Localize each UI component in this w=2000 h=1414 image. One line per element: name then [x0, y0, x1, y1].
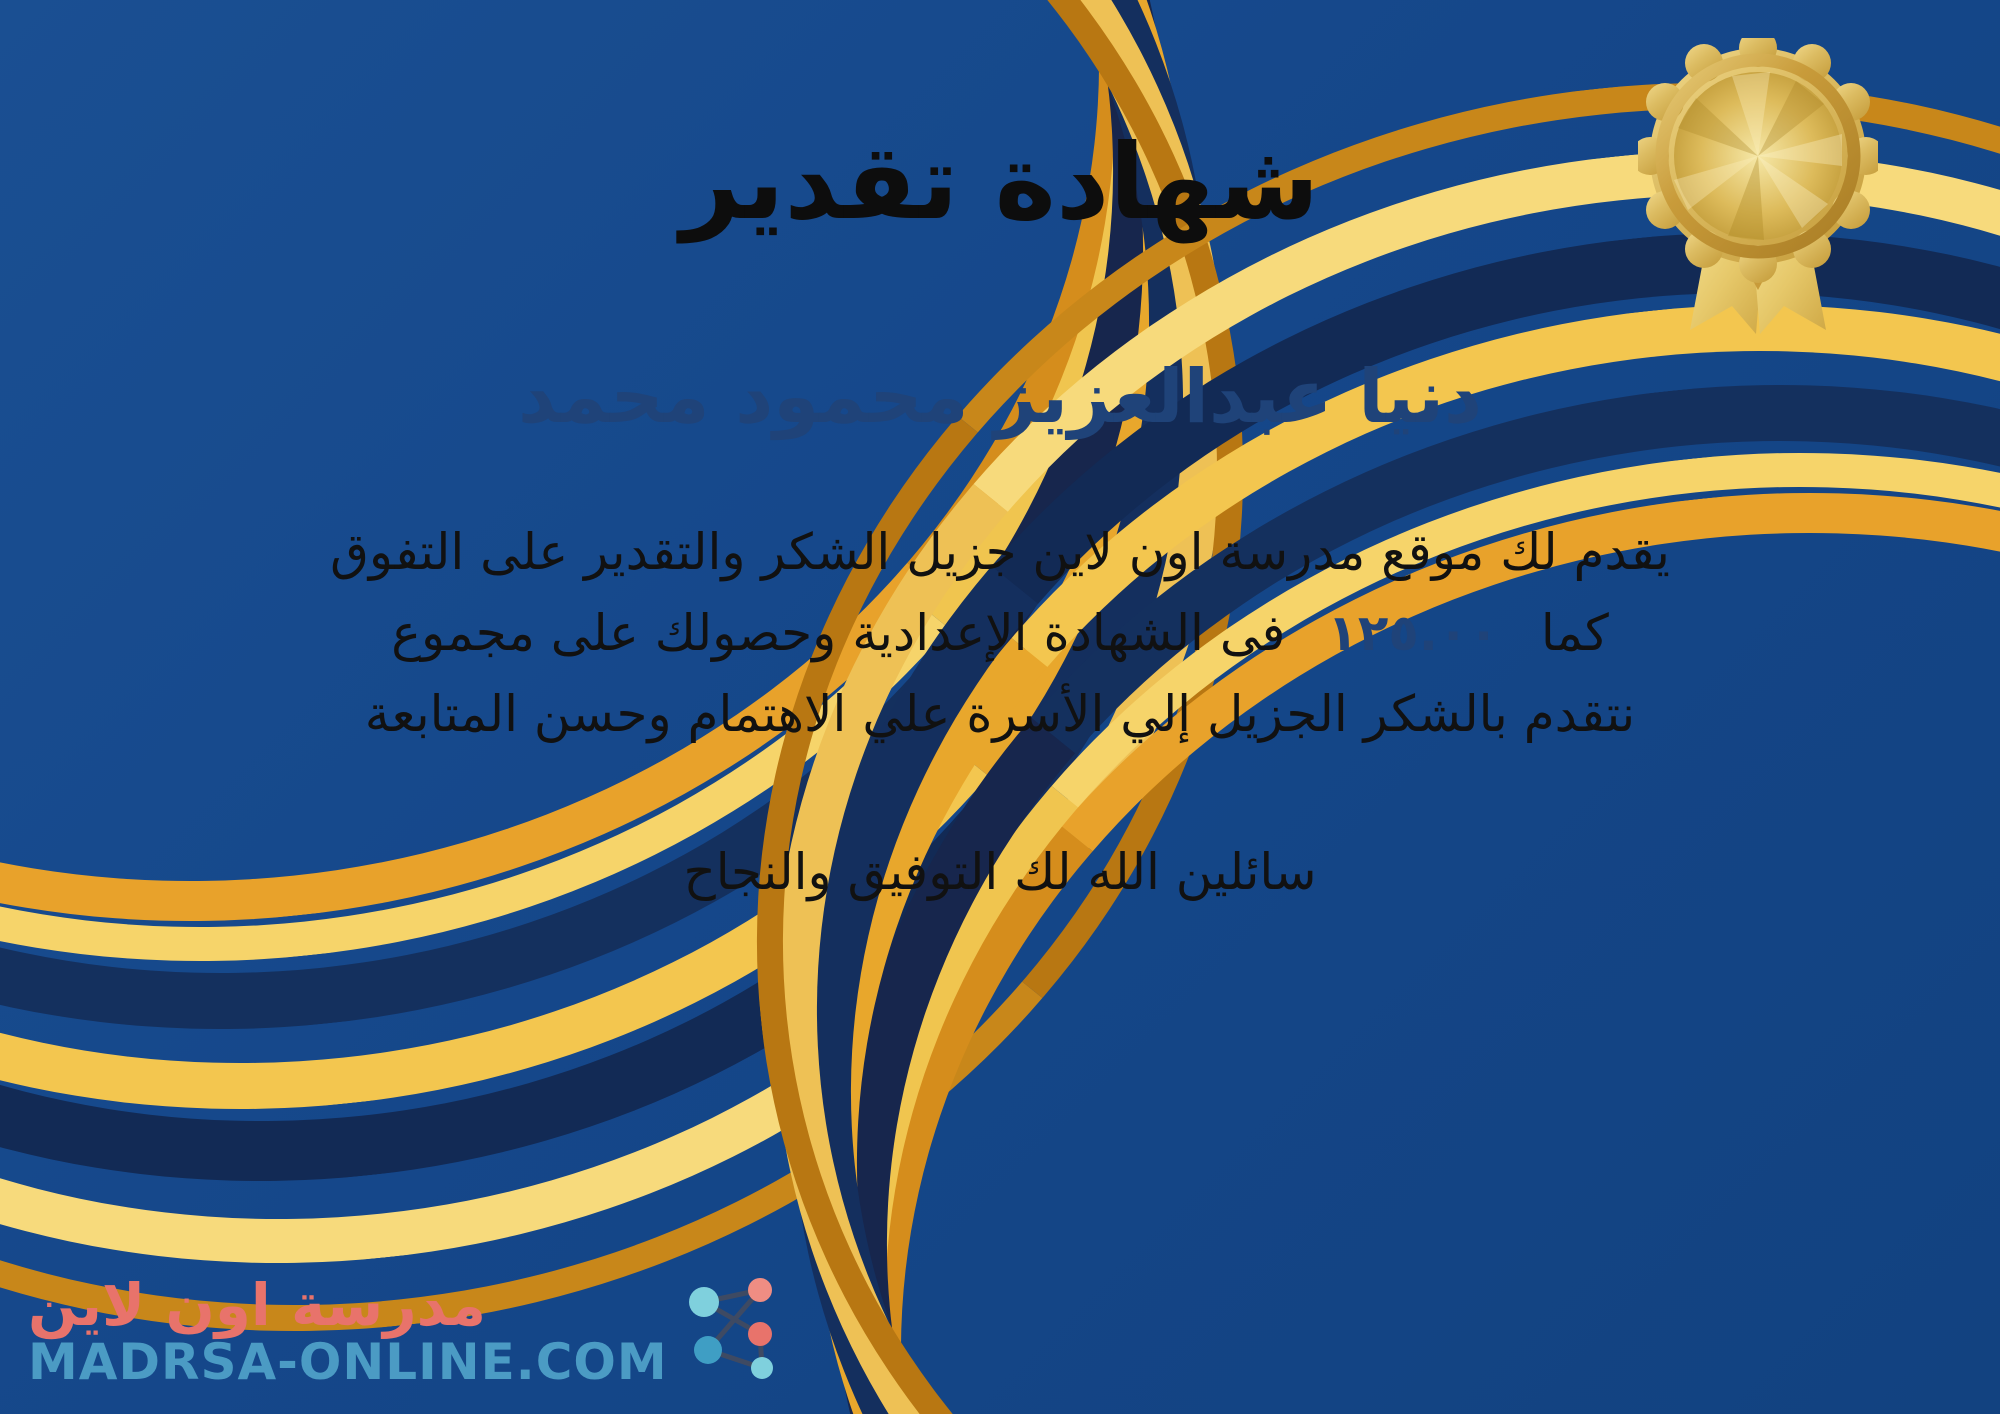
site-logo[interactable]: مدرسة اون لاين MADRSA-ONLINE.COM	[28, 1272, 786, 1392]
logo-text-block: مدرسة اون لاين MADRSA-ONLINE.COM	[28, 1275, 668, 1389]
recipient-name: دنيا عبدالعزيز محمود محمد	[518, 355, 1482, 440]
body-line-3: نتقدم بالشكر الجزيل إلي الأسرة علي الاهت…	[90, 674, 1910, 755]
body-line-2-prefix: كما	[1541, 604, 1609, 662]
closing-line: سائلين الله لك التوفيق والنجاح	[683, 843, 1316, 901]
page-title: شهادة تقدير	[681, 128, 1320, 237]
body-line-1: يقدم لك موقع مدرسة اون لاين جزيل الشكر و…	[90, 512, 1910, 593]
certificate-canvas: شهادة تقدير دنيا عبدالعزيز محمود محمد يق…	[0, 0, 2000, 1414]
body-line-2: كما ١٢٥.٠٠ فى الشهادة الإعدادية وحصولك ع…	[90, 593, 1910, 674]
certificate-body: يقدم لك موقع مدرسة اون لاين جزيل الشكر و…	[90, 512, 1910, 755]
logo-website-url: MADRSA-ONLINE.COM	[28, 1336, 668, 1389]
body-line-2-suffix: فى الشهادة الإعدادية وحصولك على مجموع	[391, 604, 1285, 662]
certificate-content: شهادة تقدير دنيا عبدالعزيز محمود محمد يق…	[0, 0, 2000, 1414]
logo-arabic-name: مدرسة اون لاين	[28, 1275, 486, 1336]
grade-value: ١٢٥.٠٠	[1301, 604, 1525, 662]
network-nodes-icon	[682, 1272, 786, 1392]
